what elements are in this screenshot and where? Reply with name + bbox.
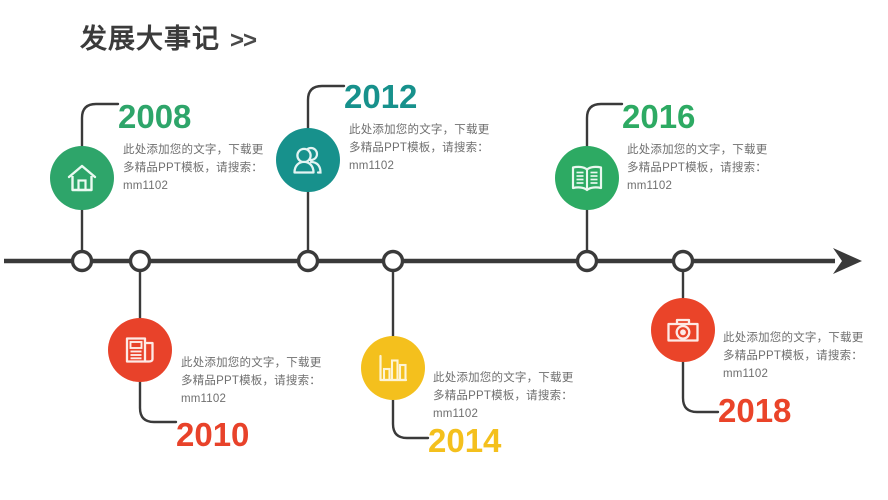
milestone-body-2008: 此处添加您的文字，下载更多精品PPT模板，请搜索：mm1102 [123,142,275,195]
milestone-bubble-2016[interactable] [555,146,619,210]
infographic-canvas: 发展大事记 >> [0,0,888,500]
house-icon [65,161,99,195]
users-icon [291,143,325,177]
timeline-node-2016 [578,252,597,271]
newspaper-icon [123,333,157,367]
year-label-2016: 2016 [622,100,695,133]
chevron-right-icon: >> [230,29,256,53]
timeline-node-2012 [299,252,318,271]
bar-chart-icon [376,351,410,385]
page-title-text: 发展大事记 [80,26,220,53]
milestone-bubble-2014[interactable] [361,336,425,400]
milestone-body-2012: 此处添加您的文字，下载更多精品PPT模板，请搜索：mm1102 [349,122,501,175]
milestone-bubble-2010[interactable] [108,318,172,382]
milestone-body-2010: 此处添加您的文字，下载更多精品PPT模板，请搜索：mm1102 [181,355,333,408]
milestone-body-2016: 此处添加您的文字，下载更多精品PPT模板，请搜索：mm1102 [627,142,779,195]
milestone-body-2018: 此处添加您的文字，下载更多精品PPT模板，请搜索：mm1102 [723,330,875,383]
page-title: 发展大事记 >> [80,26,256,53]
camera-icon [665,313,701,347]
milestone-bubble-2018[interactable] [651,298,715,362]
milestone-bubble-2008[interactable] [50,146,114,210]
open-book-icon [569,161,605,195]
year-label-2010: 2010 [176,418,249,451]
milestone-bubble-2012[interactable] [276,128,340,192]
timeline-node-2014 [384,252,403,271]
timeline-node-2008 [73,252,92,271]
year-label-2018: 2018 [718,394,791,427]
year-label-2012: 2012 [344,80,417,113]
timeline-node-2018 [674,252,693,271]
year-label-2014: 2014 [428,424,501,457]
milestone-body-2014: 此处添加您的文字，下载更多精品PPT模板，请搜索：mm1102 [433,370,585,423]
year-label-2008: 2008 [118,100,191,133]
timeline-node-2010 [131,252,150,271]
timeline-arrow-head [833,248,862,274]
